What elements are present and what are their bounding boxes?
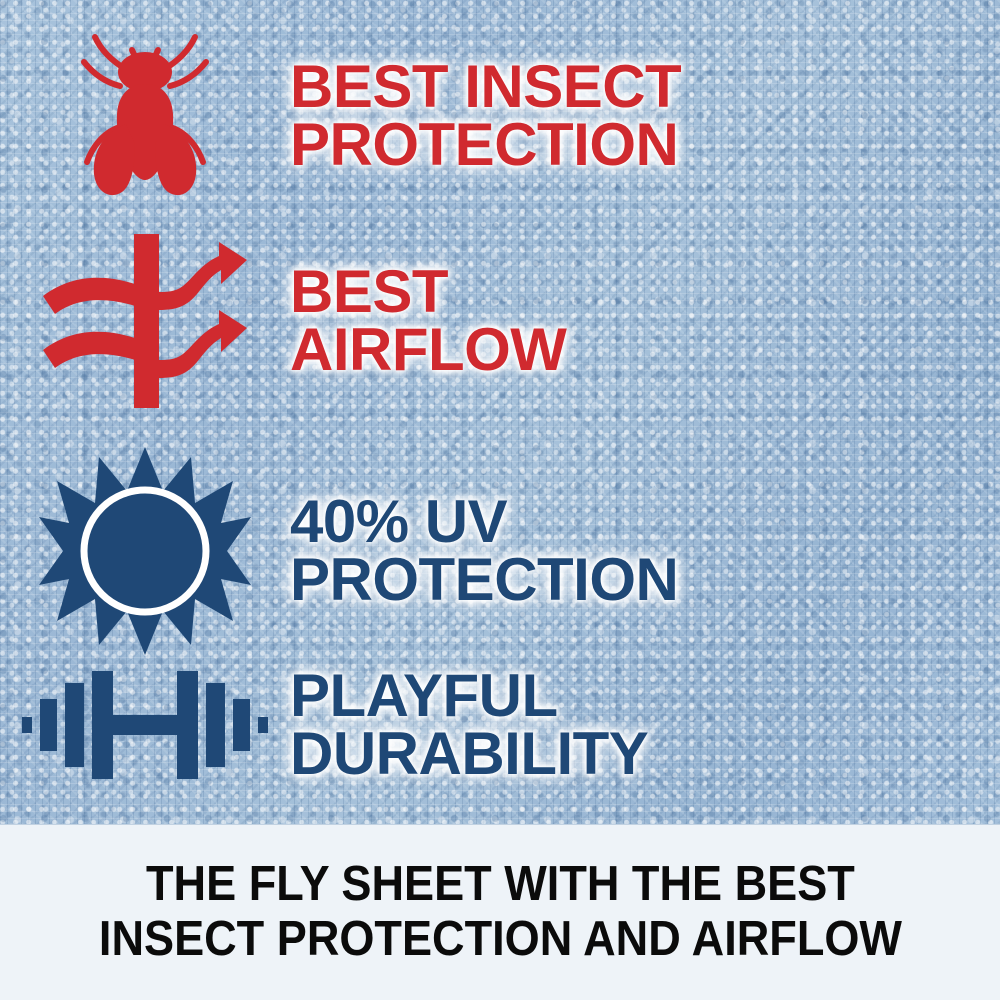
feature-label-insect-protection: BEST INSECT PROTECTION (290, 58, 681, 173)
product-feature-infographic: BEST INSECT PROTECTION BEST AIRFLOW (0, 0, 1000, 1000)
fly-icon (70, 28, 220, 203)
feature-row-airflow: BEST AIRFLOW (0, 232, 900, 410)
feature-label-durability: PLAYFUL DURABILITY (290, 667, 648, 782)
feature-row-durability: PLAYFUL DURABILITY (0, 650, 900, 800)
bottom-banner: THE FLY SHEET WITH THE BEST INSECT PROTE… (0, 824, 1000, 1000)
sun-icon-cell (0, 445, 290, 657)
feature-label-airflow: BEST AIRFLOW (290, 263, 566, 378)
banner-headline: THE FLY SHEET WITH THE BEST INSECT PROTE… (98, 857, 901, 967)
sun-burst-icon (39, 445, 251, 657)
dumbbell-icon (20, 665, 270, 785)
dumbbell-icon-cell (0, 665, 290, 785)
airflow-icon-cell (0, 232, 290, 410)
feature-row-insect-protection: BEST INSECT PROTECTION (0, 28, 900, 203)
fly-icon-cell (0, 28, 290, 203)
feature-label-uv-protection: 40% UV PROTECTION (290, 493, 678, 608)
airflow-arrows-icon (35, 232, 255, 410)
feature-row-uv-protection: 40% UV PROTECTION (0, 443, 900, 658)
